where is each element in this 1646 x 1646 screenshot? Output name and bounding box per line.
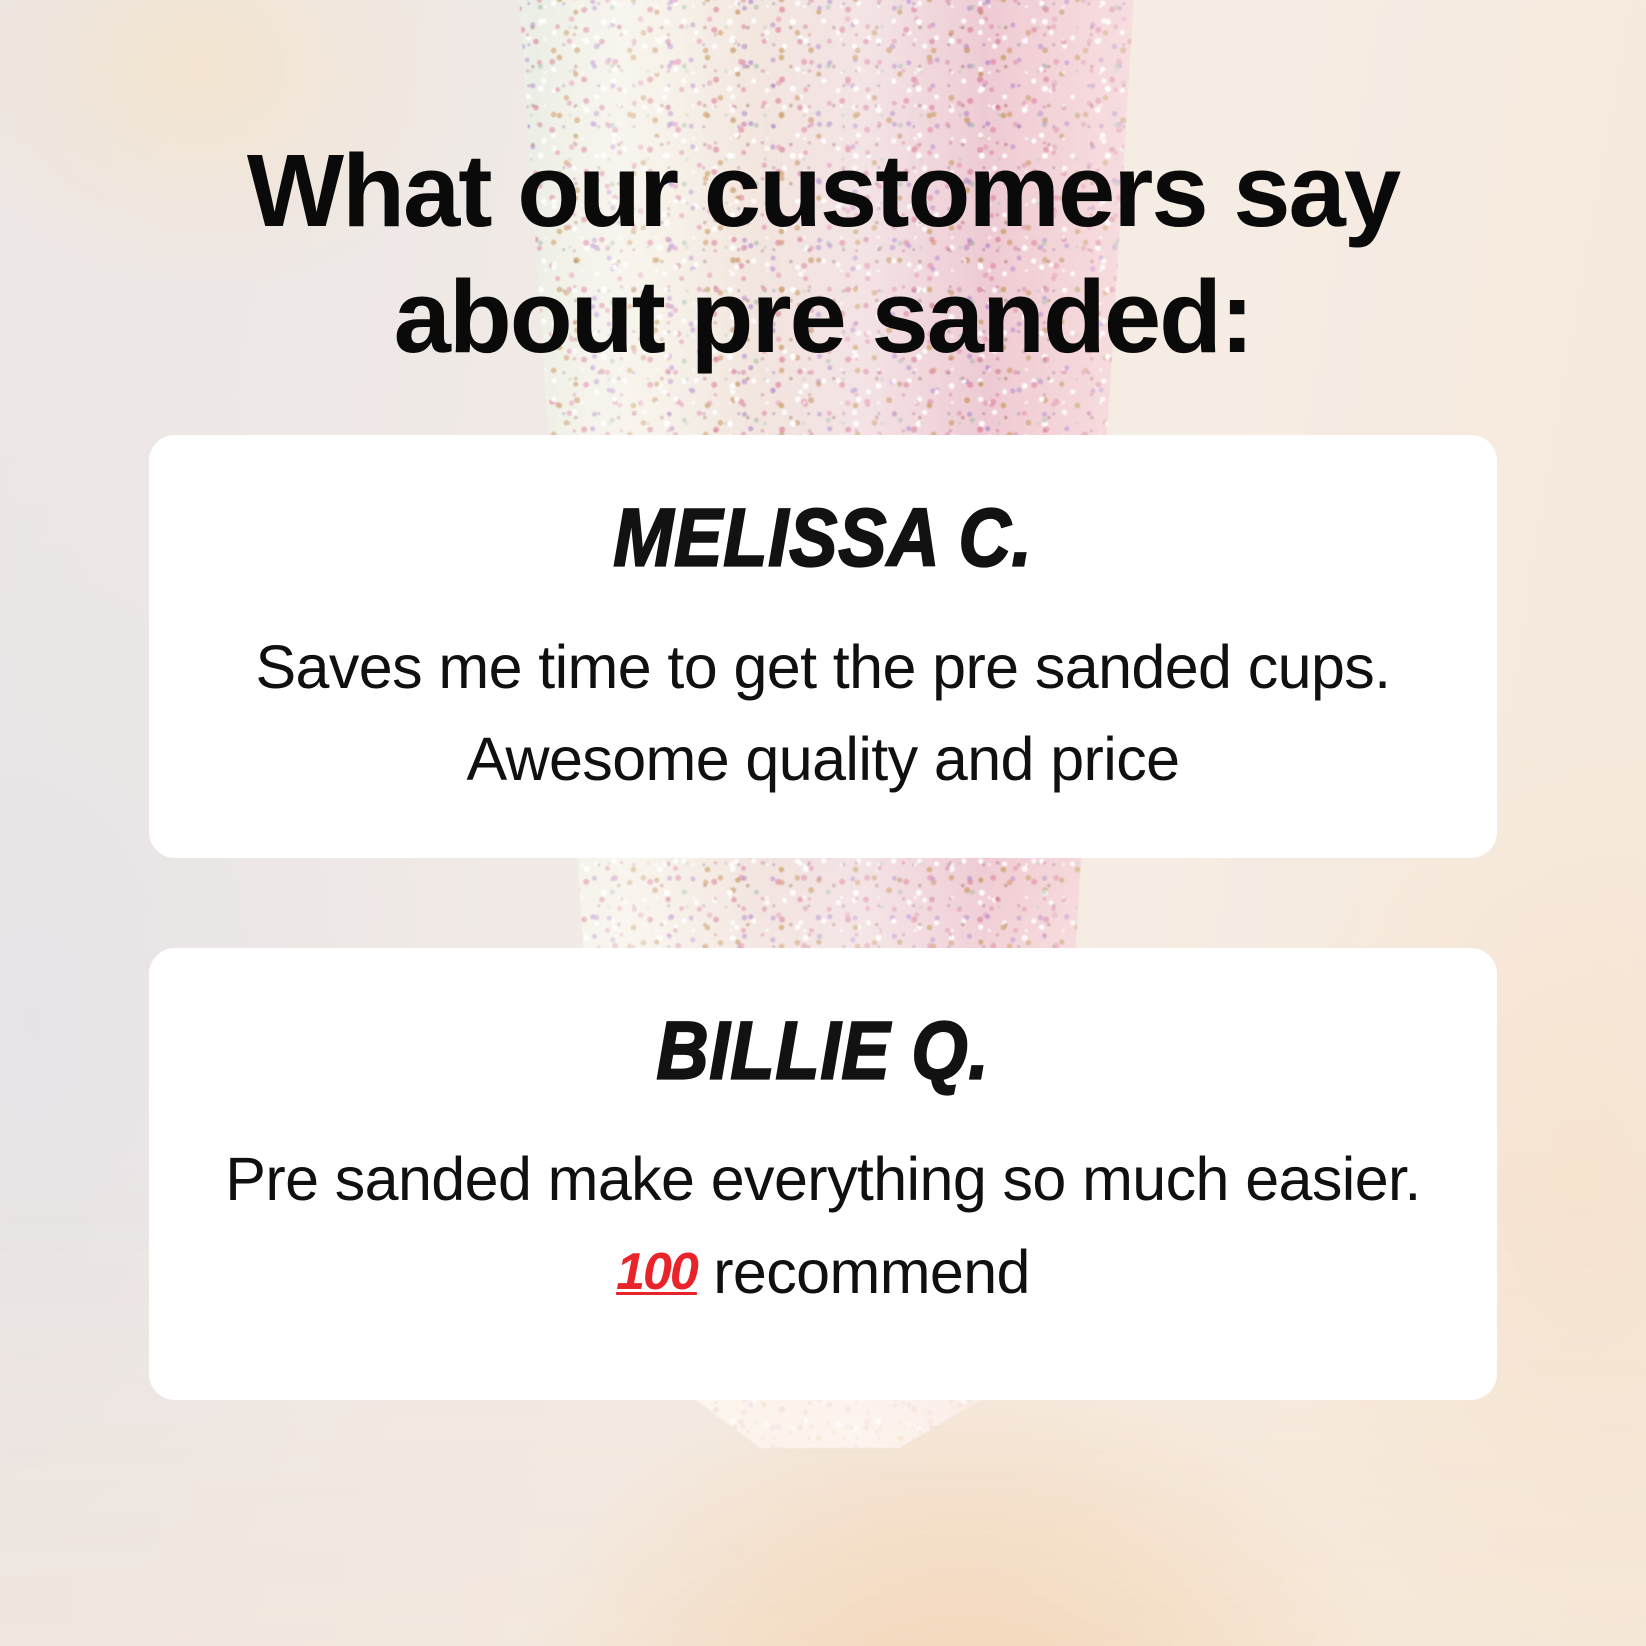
page-title: What our customers say about pre sanded:	[0, 128, 1646, 379]
testimonial-quote: Saves me time to get the pre sanded cups…	[207, 621, 1439, 806]
testimonial-quote-part-1: Pre sanded make everything so much easie…	[225, 1145, 1420, 1213]
reviewer-name: MELISSA C.	[207, 494, 1439, 584]
page-title-line-2: about pre sanded:	[394, 259, 1253, 374]
testimonial-card-list: MELISSA C. Saves me time to get the pre …	[0, 435, 1646, 1400]
testimonial-card: MELISSA C. Saves me time to get the pre …	[149, 435, 1497, 858]
testimonial-quote: Pre sanded make everything so much easie…	[207, 1133, 1439, 1318]
testimonial-graphic: What our customers say about pre sanded:…	[0, 0, 1646, 1646]
reviewer-name: BILLIE Q.	[207, 1006, 1439, 1096]
hundred-points-icon: 100	[616, 1233, 697, 1312]
page-title-line-1: What our customers say	[247, 133, 1399, 248]
content-layer: What our customers say about pre sanded:…	[0, 0, 1646, 1646]
testimonial-quote-part-2: recommend	[713, 1238, 1030, 1306]
testimonial-card: BILLIE Q. Pre sanded make everything so …	[149, 948, 1497, 1400]
